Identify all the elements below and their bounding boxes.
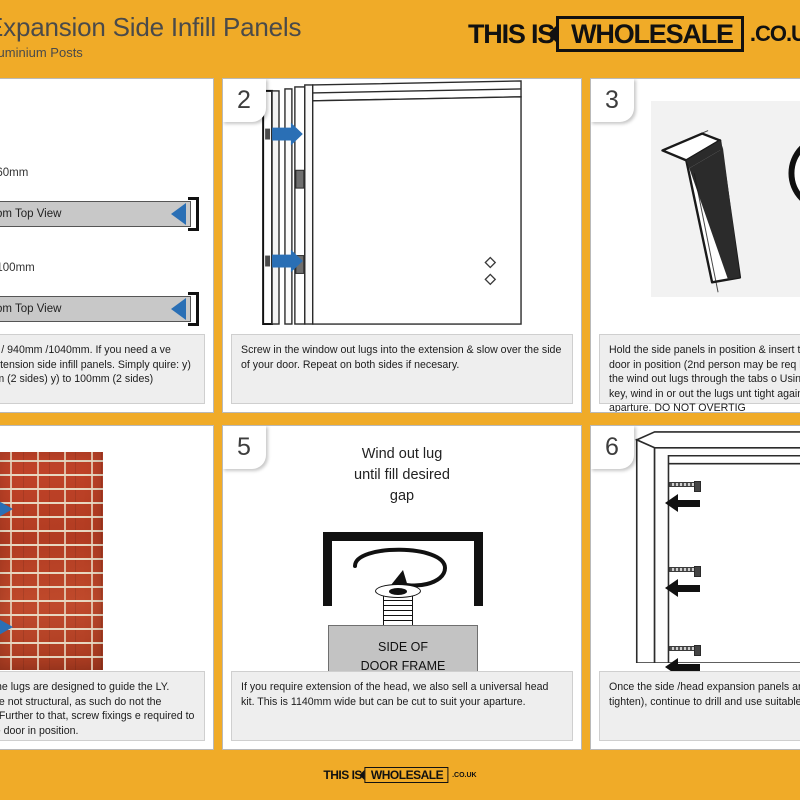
instruction-panel-3: 3: [590, 78, 800, 413]
blue-arrow-icon: [0, 500, 13, 518]
footer-logo-boxed-text: WHOLESALE: [364, 767, 448, 783]
fixing-arrow-icon: [665, 494, 700, 512]
panel-5-artwork: Wind out lug until fill desired gap SIDE…: [223, 426, 581, 663]
blue-arrow-icon: [171, 298, 186, 320]
panel-1-artwork: mm - 60mm viewed from Top View mm - 100m…: [0, 79, 213, 326]
page-title: Expansion Side Infill Panels: [0, 12, 301, 43]
instruction-panel-4: 4 note - the lugs are designed to guide …: [0, 425, 214, 750]
heading-line-3: gap: [223, 486, 581, 507]
blue-arrow-icon: [0, 618, 13, 636]
bracket-icon: [188, 197, 199, 231]
dimension-label-top: mm - 60mm: [0, 167, 28, 179]
panel-4-caption: note - the lugs are designed to guide th…: [0, 671, 205, 741]
page-subtitle: Aluminium Posts: [0, 45, 83, 60]
step-badge-5: 5: [222, 425, 266, 469]
panel-1-caption: 840mm / 940mm /1040mm. If you need a ve …: [0, 334, 205, 404]
door-extension-diagram: [223, 79, 581, 326]
lug-socket-hole: [389, 588, 407, 595]
heading-line-2: until fill desired: [223, 465, 581, 486]
brand-logo: THIS IS WHOLESALE .CO.UK: [468, 16, 800, 52]
brick-wall-image: [0, 452, 103, 670]
panel-4-artwork: [0, 426, 213, 663]
page-header: Expansion Side Infill Panels Aluminium P…: [0, 0, 800, 68]
logo-tld-text: .CO.UK: [750, 21, 800, 47]
page-footer: THIS IS WHOLESALE .CO.UK: [0, 758, 800, 800]
footer-logo-prefix-text: THIS IS: [323, 768, 362, 782]
logo-boxed-text: WHOLESALE: [556, 16, 744, 52]
panel-2-artwork: [223, 79, 581, 326]
door-frame-label-line-1: SIDE OF: [378, 638, 428, 657]
instruction-panel-5: 5 Wind out lug until fill desired gap SI…: [222, 425, 582, 750]
instruction-panel-grid: 1 mm - 60mm viewed from Top View mm - 10…: [0, 68, 800, 758]
footer-brand-logo: THIS IS WHOLESALE .CO.UK: [323, 767, 476, 783]
panel-3-caption: Hold the side panels in position & inser…: [599, 334, 800, 404]
step-badge-2: 2: [222, 78, 266, 122]
lug-thread: [383, 596, 413, 626]
panel-5-caption: If you require extension of the head, we…: [231, 671, 573, 741]
logo-prefix-text: THIS IS: [468, 19, 554, 50]
step-badge-3: 3: [590, 78, 634, 122]
instruction-panel-1: 1 mm - 60mm viewed from Top View mm - 10…: [0, 78, 214, 413]
heading-line-1: Wind out lug: [223, 444, 581, 465]
instruction-panel-6: 6 Once th: [590, 425, 800, 750]
panel-6-caption: Once the side /head expansion panels are…: [599, 671, 800, 741]
screw-icon: [669, 482, 697, 487]
fixing-arrow-icon: [665, 579, 700, 597]
dimension-label-bottom: mm - 100mm: [0, 262, 35, 274]
top-view-bar-2: viewed from Top View: [0, 296, 191, 322]
top-view-bar-1: viewed from Top View: [0, 201, 191, 227]
footer-logo-tld-text: .CO.UK: [452, 772, 477, 779]
blue-arrow-icon: [171, 203, 186, 225]
screw-icon: [669, 646, 697, 651]
panel-2-caption: Screw in the window out lugs into the ex…: [231, 334, 573, 404]
wind-out-lug-heading: Wind out lug until fill desired gap: [223, 444, 581, 507]
screw-icon: [669, 567, 697, 572]
step-badge-6: 6: [590, 425, 634, 469]
bracket-icon: [188, 292, 199, 326]
instruction-panel-2: 2: [222, 78, 582, 413]
